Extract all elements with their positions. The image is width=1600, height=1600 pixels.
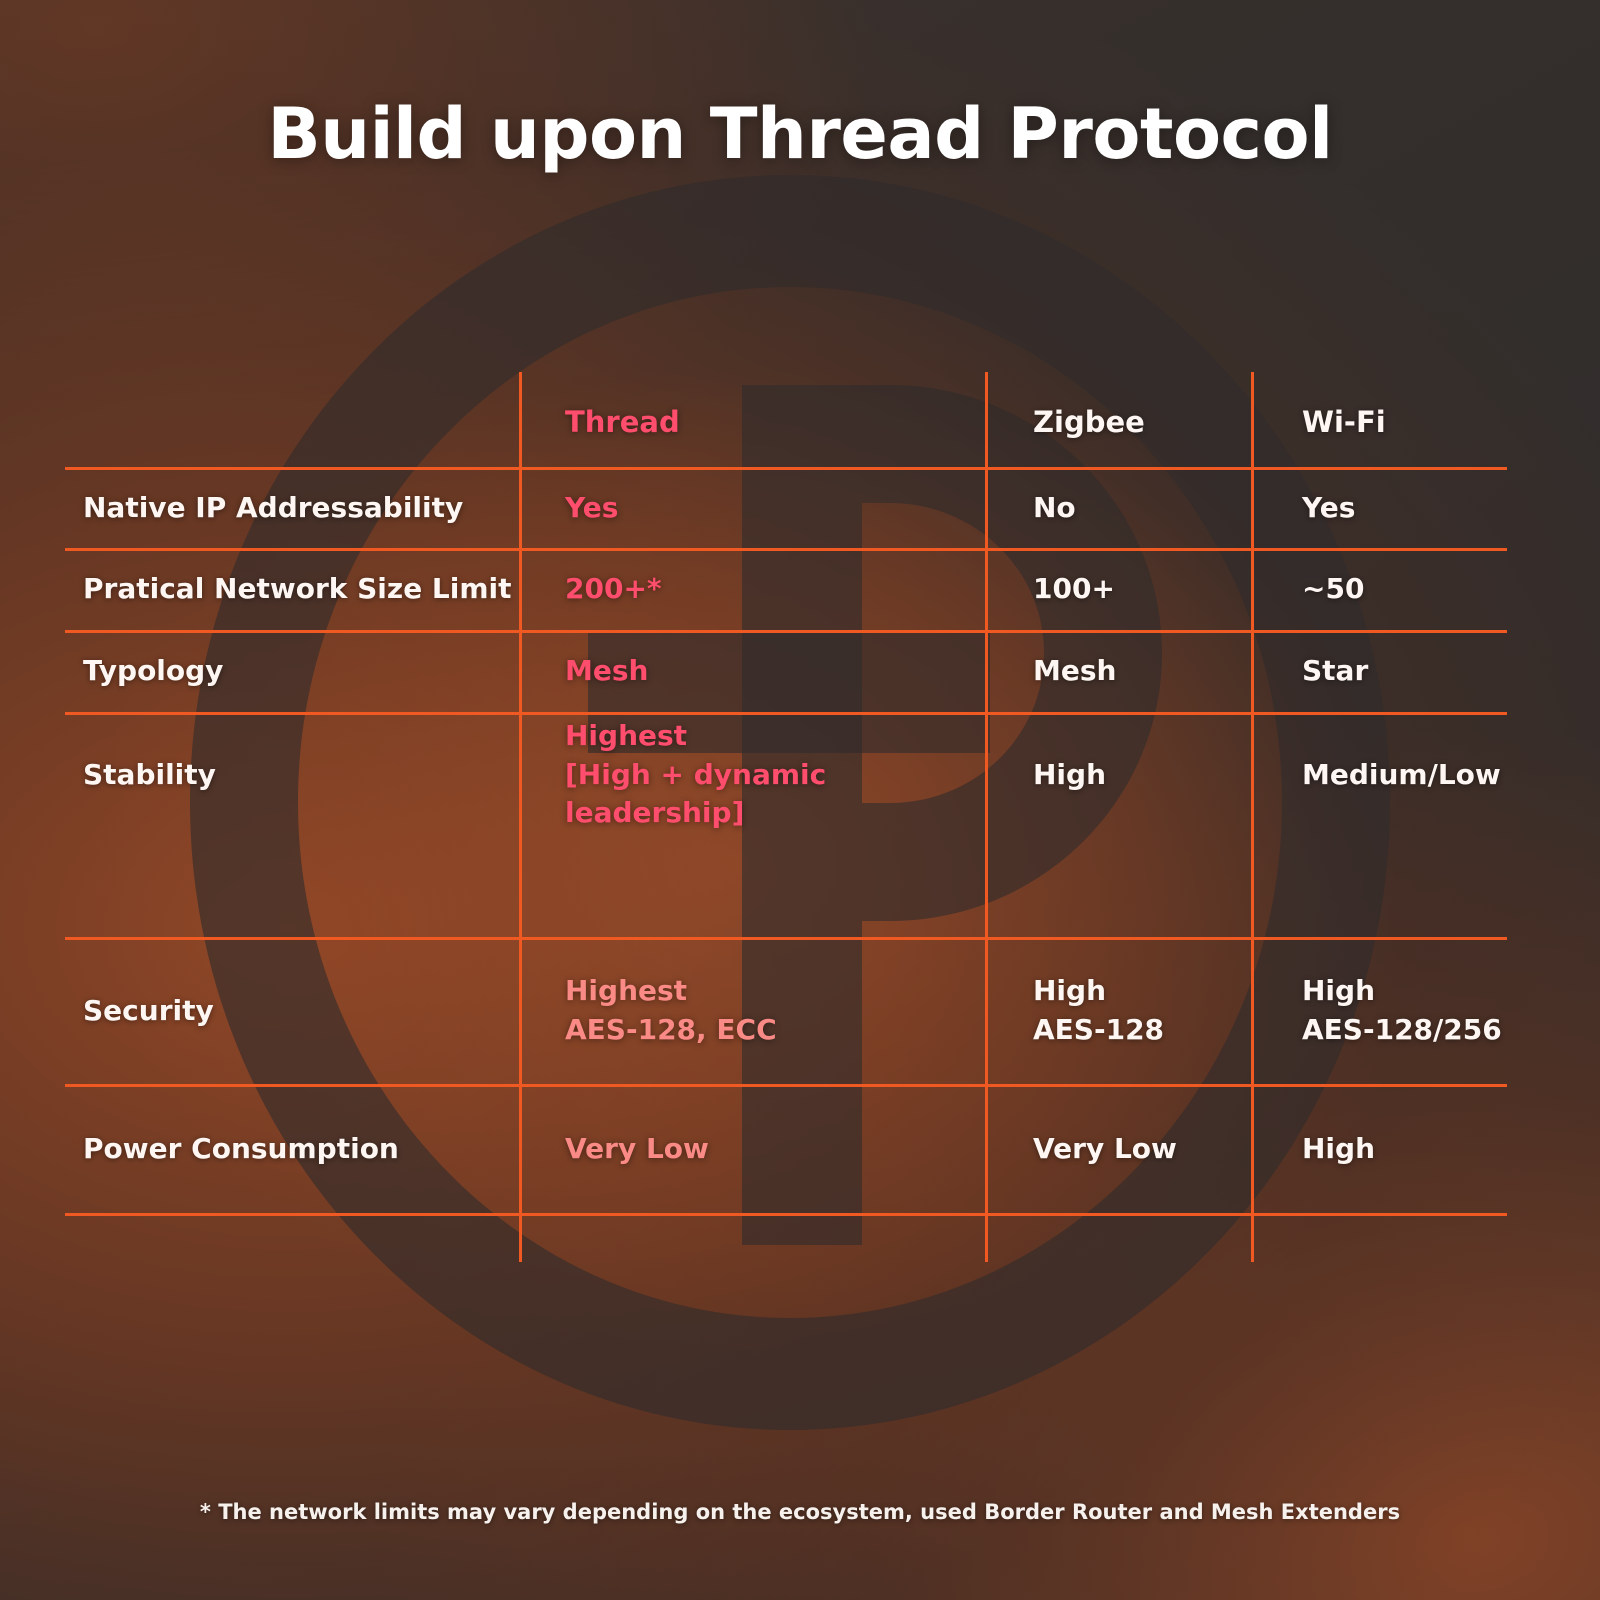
cell-wifi-native-ip: Yes (1302, 470, 1502, 546)
grid-vline-2 (985, 372, 988, 1262)
row-label-stability: Stability (83, 715, 513, 835)
column-header-wifi: Wi-Fi (1302, 380, 1502, 464)
grid-hline-7 (65, 1213, 1507, 1216)
row-label-typology: Typology (83, 633, 513, 709)
column-header-zigbee: Zigbee (1033, 380, 1243, 464)
cell-zigbee-network-size: 100+ (1033, 551, 1243, 627)
grid-vline-3 (1251, 372, 1254, 1262)
column-header-thread: Thread (565, 380, 965, 464)
infographic-page: Build upon Thread Protocol Thread Zigbee… (0, 0, 1600, 1600)
cell-zigbee-typology: Mesh (1033, 633, 1243, 709)
cell-thread-power: Very Low (565, 1087, 965, 1211)
row-label-power: Power Consumption (83, 1087, 513, 1211)
cell-thread-network-size: 200+* (565, 551, 965, 627)
row-label-native-ip: Native IP Addressability (83, 470, 513, 546)
cell-thread-typology: Mesh (565, 633, 965, 709)
row-label-security: Security (83, 940, 513, 1082)
cell-thread-security: Highest AES-128, ECC (565, 940, 965, 1082)
cell-zigbee-security: High AES-128 (1033, 940, 1243, 1082)
comparison-table: Thread Zigbee Wi-Fi Native IP Addressabi… (65, 372, 1507, 1262)
cell-wifi-security: High AES-128/256 (1302, 940, 1517, 1082)
cell-thread-native-ip: Yes (565, 470, 965, 546)
cell-zigbee-native-ip: No (1033, 470, 1243, 546)
cell-thread-stability: Highest [High + dynamic leadership] (565, 715, 985, 835)
footnote-text: * The network limits may vary depending … (0, 1500, 1600, 1524)
grid-vline-1 (519, 372, 522, 1262)
page-title: Build upon Thread Protocol (0, 98, 1600, 172)
cell-wifi-network-size: ~50 (1302, 551, 1502, 627)
row-label-network-size: Pratical Network Size Limit (83, 551, 513, 627)
cell-zigbee-power: Very Low (1033, 1087, 1243, 1211)
cell-wifi-stability: Medium/Low (1302, 715, 1512, 835)
cell-zigbee-stability: High (1033, 715, 1243, 835)
cell-wifi-typology: Star (1302, 633, 1502, 709)
cell-wifi-power: High (1302, 1087, 1502, 1211)
